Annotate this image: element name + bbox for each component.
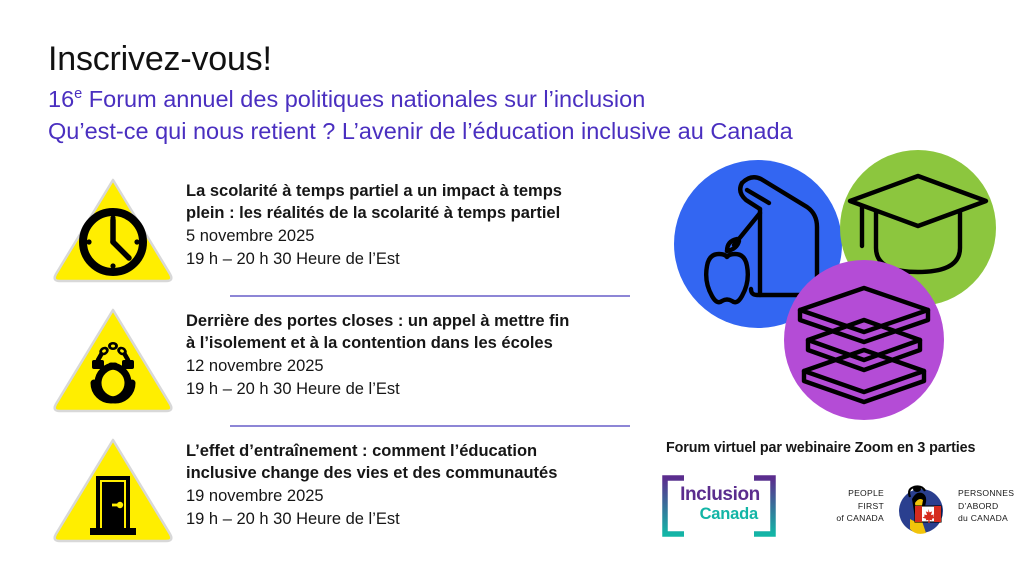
education-illustration bbox=[672, 150, 1016, 434]
inclusion-canada-logo: Inclusion Canada bbox=[658, 475, 780, 537]
event-item: L’effet d’entraînement : comment l’éduca… bbox=[40, 428, 650, 558]
event-date: 19 novembre 2025 bbox=[186, 485, 650, 508]
event-title-line-2: à l’isolement et à la contention dans le… bbox=[186, 332, 650, 354]
event-time: 19 h – 20 h 30 Heure de l’Est bbox=[186, 378, 650, 401]
people-first-globe-icon bbox=[890, 475, 952, 537]
pf-en-line-3: of CANADA bbox=[806, 512, 884, 524]
event-date: 12 novembre 2025 bbox=[186, 355, 650, 378]
forum-subtitle-line-2: Qu’est-ce qui nous retient ? L’avenir de… bbox=[48, 116, 928, 146]
event-time: 19 h – 20 h 30 Heure de l’Est bbox=[186, 248, 650, 271]
people-first-french-text: PERSONNES D’ABORD du CANADA bbox=[958, 487, 1024, 524]
event-date: 5 novembre 2025 bbox=[186, 225, 650, 248]
heading-block: Inscrivez-vous! 16e Forum annuel des pol… bbox=[48, 38, 928, 146]
people-first-of-canada-logo: PEOPLE FIRST of CANADA PERSONN bbox=[806, 475, 1024, 537]
event-title-line-1: La scolarité à temps partiel a un impact… bbox=[186, 180, 650, 202]
event-text-container: La scolarité à temps partiel a un impact… bbox=[186, 168, 650, 271]
event-text-container: Derrière des portes closes : un appel à … bbox=[186, 298, 650, 401]
pf-fr-line-2: D’ABORD bbox=[958, 500, 1024, 512]
event-icon-container bbox=[40, 428, 186, 546]
event-item: La scolarité à temps partiel a un impact… bbox=[40, 168, 650, 298]
page-title: Inscrivez-vous! bbox=[48, 38, 928, 80]
inclusion-canada-wordmark: Inclusion Canada bbox=[680, 485, 760, 523]
event-title-line-2: inclusive change des vies et des communa… bbox=[186, 462, 650, 484]
warning-triangle-door-icon bbox=[50, 434, 176, 546]
inclusion-word: Inclusion bbox=[680, 485, 760, 505]
event-icon-container bbox=[40, 298, 186, 416]
warning-triangle-clock-icon bbox=[50, 174, 176, 286]
pf-en-line-2: FIRST bbox=[806, 500, 884, 512]
event-divider bbox=[230, 295, 630, 297]
pf-en-line-1: PEOPLE bbox=[806, 487, 884, 499]
forum-edition-number: 16 bbox=[48, 86, 74, 112]
event-title-line-2: plein : les réalités de la scolarité à t… bbox=[186, 202, 650, 224]
event-title-line-1: L’effet d’entraînement : comment l’éduca… bbox=[186, 440, 650, 462]
event-text-container: L’effet d’entraînement : comment l’éduca… bbox=[186, 428, 650, 531]
book-stack-circle bbox=[784, 260, 944, 420]
event-item: Derrière des portes closes : un appel à … bbox=[40, 298, 650, 428]
event-divider bbox=[230, 425, 630, 427]
logo-row: Inclusion Canada PEOPLE FIRST of CANADA bbox=[658, 470, 1014, 542]
events-list: La scolarité à temps partiel a un impact… bbox=[40, 168, 650, 558]
pf-fr-line-1: PERSONNES bbox=[958, 487, 1024, 499]
webinar-format-note: Forum virtuel par webinaire Zoom en 3 pa… bbox=[666, 440, 1006, 456]
event-icon-container bbox=[40, 168, 186, 286]
people-first-english-text: PEOPLE FIRST of CANADA bbox=[806, 487, 884, 524]
event-title-line-1: Derrière des portes closes : un appel à … bbox=[186, 310, 650, 332]
presentation-slide: Inscrivez-vous! 16e Forum annuel des pol… bbox=[0, 0, 1024, 576]
warning-triangle-handcuffs-icon bbox=[50, 304, 176, 416]
event-time: 19 h – 20 h 30 Heure de l’Est bbox=[186, 508, 650, 531]
pf-fr-line-3: du CANADA bbox=[958, 512, 1024, 524]
forum-subtitle-rest: Forum annuel des politiques nationales s… bbox=[82, 86, 645, 112]
forum-subtitle-line-1: 16e Forum annuel des politiques national… bbox=[48, 84, 928, 114]
canada-word: Canada bbox=[680, 505, 760, 523]
canada-flag-icon bbox=[915, 506, 941, 523]
